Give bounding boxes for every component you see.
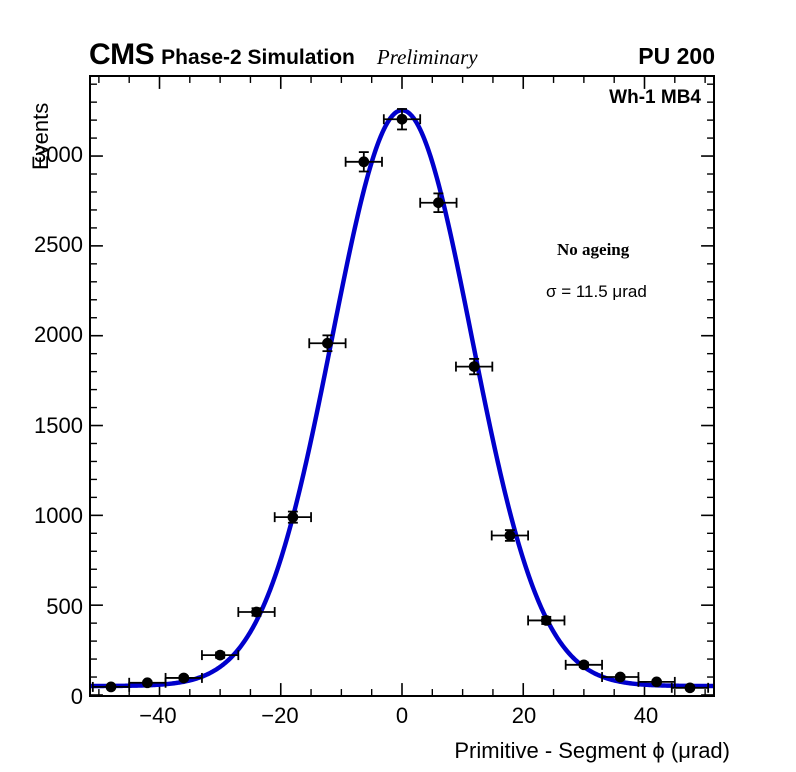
sigma-label: σ = 11.5 μrad — [546, 282, 647, 302]
cms-logo-text: CMS — [89, 40, 154, 70]
pileup-label: PU 200 — [638, 45, 715, 68]
cms-subtitle-text: Phase-2 Simulation — [161, 47, 355, 68]
data-point — [456, 359, 492, 374]
y-axis-tick-labels: 050010001500200025003000 — [0, 0, 83, 772]
data-point — [420, 193, 456, 212]
y-tick-label: 0 — [71, 684, 83, 710]
cms-status-text: Preliminary — [377, 47, 478, 68]
x-tick-label: −40 — [139, 703, 176, 729]
y-tick-label: 2000 — [34, 322, 83, 348]
data-point — [238, 607, 274, 618]
x-axis-title: Primitive - Segment ϕ (μrad) — [0, 738, 730, 764]
y-tick-label: 3000 — [34, 142, 83, 168]
region-label: Wh-1 MB4 — [609, 87, 701, 109]
x-tick-label: 20 — [512, 703, 536, 729]
plot-drawing-area — [91, 77, 713, 695]
data-point — [275, 512, 311, 523]
gaussian-fit-curve — [91, 110, 713, 686]
x-tick-label: 0 — [396, 703, 408, 729]
y-tick-label: 500 — [46, 594, 83, 620]
data-point — [384, 109, 420, 129]
data-point — [309, 335, 345, 351]
data-point — [566, 659, 602, 670]
data-point — [528, 615, 564, 626]
x-tick-label: 40 — [634, 703, 658, 729]
x-tick-label: −20 — [261, 703, 298, 729]
data-points-group — [93, 109, 708, 693]
plot-canvas: CMS Phase-2 Simulation Preliminary PU 20… — [0, 0, 796, 772]
y-tick-label: 1500 — [34, 413, 83, 439]
plot-frame: Wh-1 MB4 No ageing σ = 11.5 μrad — [89, 75, 715, 697]
ageing-label: No ageing — [557, 240, 629, 260]
cms-header: CMS Phase-2 Simulation Preliminary PU 20… — [89, 40, 715, 70]
data-point — [492, 530, 528, 541]
axis-ticks — [91, 77, 713, 695]
y-tick-label: 1000 — [34, 503, 83, 529]
y-tick-label: 2500 — [34, 232, 83, 258]
data-point — [346, 152, 382, 171]
